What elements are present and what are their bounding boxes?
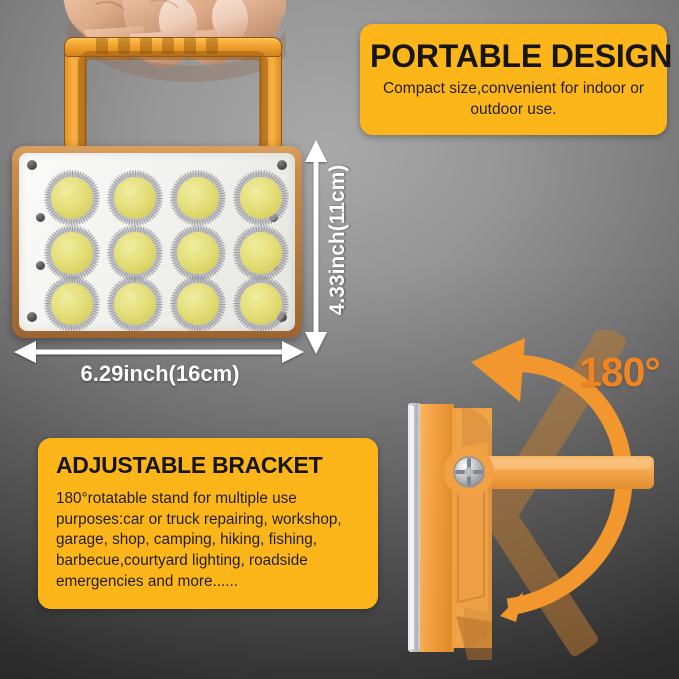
- led-chip: [51, 283, 93, 325]
- callout-portable-design: PORTABLE DESIGN Compact size,convenient …: [360, 24, 667, 135]
- callout-body: 180°rotatable stand for multiple use pur…: [56, 489, 378, 593]
- led-chip: [240, 283, 282, 325]
- handle-notch: [206, 38, 218, 54]
- callout-title: ADJUSTABLE BRACKET: [56, 451, 378, 480]
- handle-inner-channel: [78, 51, 268, 155]
- width-dimension-label: 6.29inch(16cm): [0, 361, 320, 387]
- infographic-canvas: 6.29inch(16cm) 4.33inch(11cm) PORTABLE D…: [0, 0, 679, 679]
- height-dimension-label: 4.33inch(11cm): [326, 130, 350, 350]
- led-chip: [240, 177, 282, 219]
- led-chip: [177, 177, 219, 219]
- callout-body: Compact size,convenient for indoor or ou…: [370, 78, 657, 120]
- led-chip: [114, 232, 156, 274]
- panel-screw-dot: [36, 261, 45, 270]
- handle-notch: [184, 38, 196, 54]
- led-chip: [51, 177, 93, 219]
- panel-screw-dot: [36, 213, 45, 222]
- callout-adjustable-bracket: ADJUSTABLE BRACKET 180°rotatable stand f…: [38, 438, 378, 609]
- panel-screw-dot: [277, 160, 287, 170]
- led-chip: [51, 232, 93, 274]
- led-chip: [240, 232, 282, 274]
- led-panel: [19, 153, 295, 331]
- rotation-diagram: 180°: [396, 330, 679, 679]
- rotation-angle-label: 180°: [579, 349, 660, 396]
- handle-notch: [162, 38, 174, 54]
- floodlight-head: [12, 146, 302, 338]
- handle-notch: [140, 38, 152, 54]
- product-photo-front: [0, 0, 330, 350]
- lens-edge: [408, 403, 421, 652]
- led-chip: [114, 177, 156, 219]
- led-chip: [114, 283, 156, 325]
- led-chip: [177, 283, 219, 325]
- handle-notch: [96, 38, 108, 54]
- floodlight-body-front: [420, 404, 454, 652]
- callout-title: PORTABLE DESIGN: [370, 36, 657, 76]
- panel-screw-dot: [27, 312, 37, 322]
- carry-handle: [48, 37, 298, 157]
- panel-screw-dot: [27, 160, 37, 170]
- handle-notch: [118, 38, 130, 54]
- led-chip: [177, 232, 219, 274]
